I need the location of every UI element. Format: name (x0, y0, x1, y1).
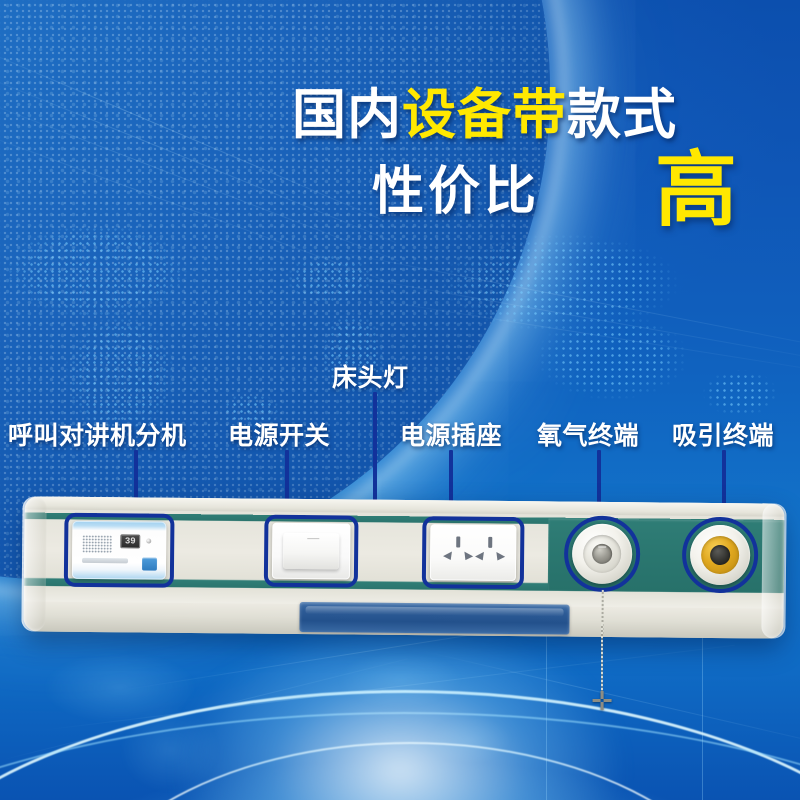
callout-label-suction-terminal: 吸引终端 (672, 416, 774, 452)
glow-arc (60, 742, 760, 800)
grid-line (702, 620, 703, 800)
highlight-box-power-switch (264, 515, 359, 588)
callout-label-power-switch: 电源开关 (228, 416, 330, 452)
headline-line1-part1: 国内 (292, 85, 402, 145)
highlight-ellipse-suction (682, 517, 759, 594)
unit-endcap-left (21, 496, 46, 631)
grid-line (546, 620, 547, 800)
callout-label-oxygen-terminal: 氧气终端 (537, 416, 639, 452)
unit-endcap-right (761, 503, 786, 638)
headline-line1-part3: 款式 (567, 85, 677, 145)
glow-arc (0, 712, 800, 800)
highlight-box-intercom (64, 513, 175, 588)
chain-pendant-glyph: ✛ (589, 688, 615, 714)
highlight-ellipse-oxygen (564, 516, 641, 593)
callout-label-intercom: 呼叫对讲机分机 (8, 416, 187, 452)
product-banner: 国内设备带款式 性价比 高 呼叫对讲机分机 电源开关 床头灯 电源插座 氧气终端… (0, 0, 800, 800)
callout-label-bed-lamp: 床头灯 (332, 358, 409, 394)
glow-arc (0, 690, 800, 800)
headline-emphasis: 高 (655, 150, 737, 232)
continent-silhouettes (0, 640, 800, 800)
callout-label-power-outlet: 电源插座 (400, 416, 502, 452)
bed-head-unit: 39 (23, 496, 784, 638)
lamp-gloss (306, 606, 564, 616)
bed-lamp-diffuser[interactable] (299, 602, 569, 635)
highlight-box-power-outlet (422, 516, 525, 589)
headline-line-1: 国内设备带款式 (292, 88, 677, 142)
headline-line1-part2: 设备带 (402, 85, 567, 145)
headline-line-2: 性价比 (372, 166, 540, 218)
bottom-light-burst (180, 620, 620, 800)
